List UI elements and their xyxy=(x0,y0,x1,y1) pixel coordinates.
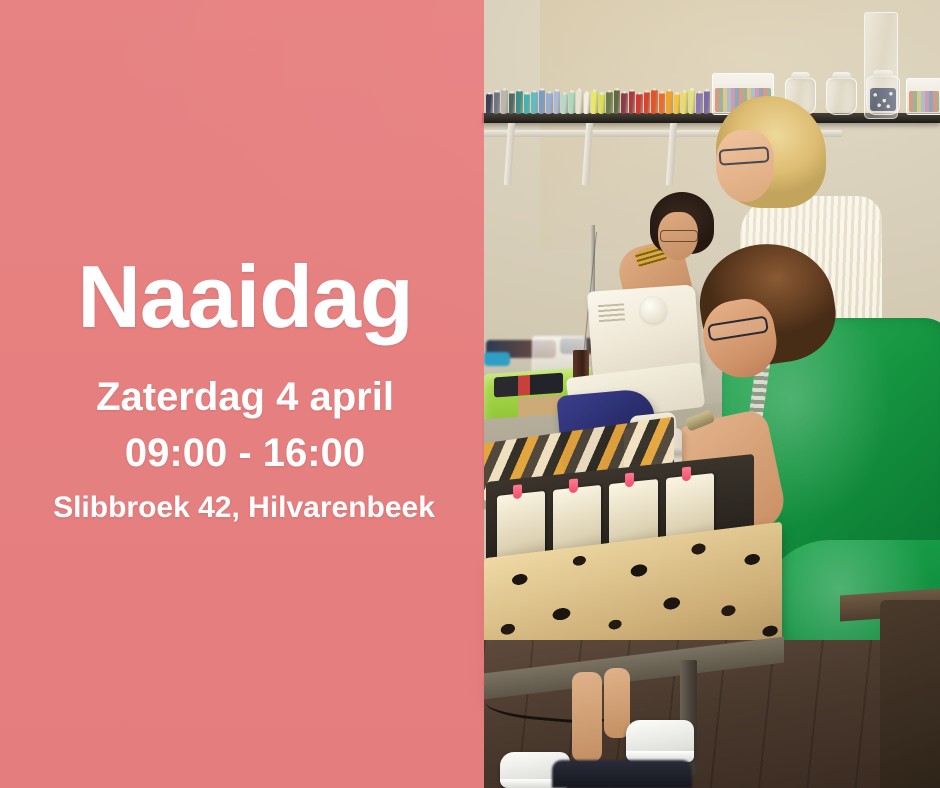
thread-cone xyxy=(546,93,553,114)
poster-text-block: Naaidag Zaterdag 4 april 09:00 - 16:00 S… xyxy=(0,255,484,523)
blue-item xyxy=(484,352,510,366)
thread-cone xyxy=(509,93,516,114)
thread-cone xyxy=(569,92,576,114)
thread-cone xyxy=(614,90,621,114)
bin-contents xyxy=(909,91,939,112)
thread-cone xyxy=(689,90,696,114)
box-contents xyxy=(494,372,564,397)
thread-cone xyxy=(651,90,658,114)
thread-cone xyxy=(486,94,493,114)
thread-cone xyxy=(621,93,628,114)
thread-cones xyxy=(486,89,711,114)
event-date: Zaterdag 4 april xyxy=(0,377,484,417)
thread-cone xyxy=(584,93,591,114)
storage-bin xyxy=(906,78,940,115)
chair xyxy=(880,600,940,788)
event-address: Slibbroek 42, Hilvarenbeek xyxy=(0,493,484,523)
jar-lid xyxy=(791,72,810,80)
bag-on-floor xyxy=(552,760,692,788)
event-time: 09:00 - 16:00 xyxy=(0,433,484,473)
sneaker xyxy=(626,720,694,762)
thread-cone xyxy=(494,92,501,114)
thread-cone xyxy=(516,91,523,114)
blonde-woman-face xyxy=(716,130,774,202)
thread-cone xyxy=(629,91,636,114)
thread-cone xyxy=(599,94,606,114)
thread-cone xyxy=(696,93,703,114)
thread-cone xyxy=(666,91,673,114)
jar-lid xyxy=(832,72,851,80)
thread-cone xyxy=(674,94,681,114)
pocket-tab xyxy=(569,478,578,493)
thread-cone xyxy=(524,94,531,114)
thread-cone xyxy=(591,91,598,114)
machine-vent xyxy=(598,303,625,323)
pocket-tab xyxy=(513,484,522,499)
thread-cone xyxy=(659,93,666,114)
poster-canvas: Naaidag Zaterdag 4 april 09:00 - 16:00 S… xyxy=(0,0,940,788)
thread-cone xyxy=(501,90,508,114)
machine-dial xyxy=(640,296,668,324)
pocket-tab xyxy=(682,466,691,481)
thread-cone xyxy=(561,94,568,114)
bare-leg xyxy=(604,668,630,738)
thread-cone xyxy=(636,94,643,114)
page-title: Naaidag xyxy=(0,255,484,339)
thread-cone xyxy=(531,92,538,114)
glass-vase xyxy=(864,12,898,119)
thread-cone xyxy=(539,90,546,114)
glasses-icon xyxy=(660,230,698,242)
glass-jar xyxy=(826,78,857,115)
thread-cone xyxy=(606,92,613,114)
thread-cone xyxy=(554,91,561,114)
pocket-tab xyxy=(625,472,634,487)
thread-cone xyxy=(681,92,688,114)
thread-cone xyxy=(704,91,711,114)
bare-leg xyxy=(572,672,602,762)
thread-cone xyxy=(644,92,651,114)
thread-cone xyxy=(576,90,583,114)
